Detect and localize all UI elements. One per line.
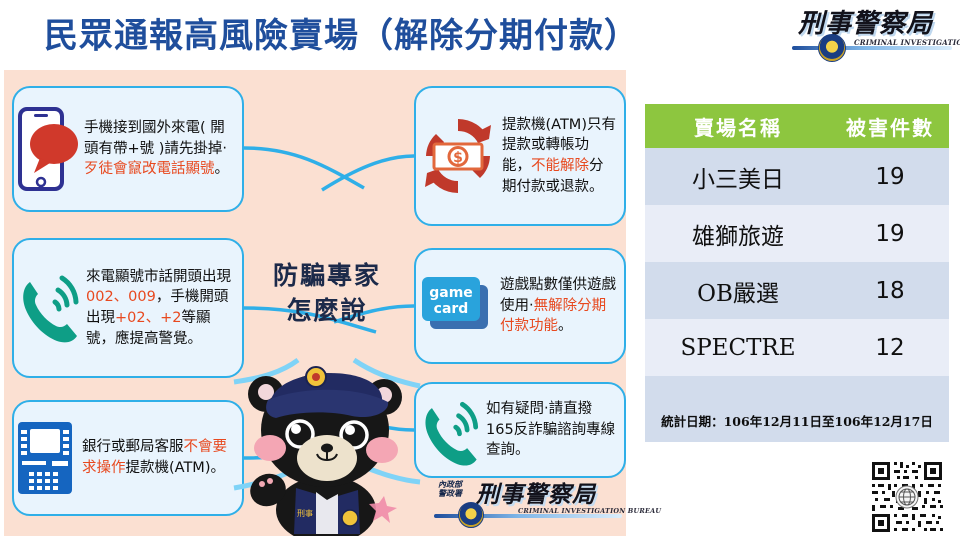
card-caller-id[interactable]: 來電顯號市話開頭出現002、009，手機開頭出現+02、+2等顯號，應提高警覺。 — [12, 238, 244, 378]
plain-text: 提款機(ATM)。 — [126, 460, 225, 476]
qr-code-icon[interactable] — [868, 458, 946, 536]
table-cell-count: 18 — [831, 278, 949, 304]
police-seal-icon — [458, 502, 484, 528]
highlighted-text: +02、+2 — [115, 310, 181, 326]
victim-count-table: 賣場名稱 被害件數 小三美日 19 雄獅旅遊 19 OB嚴選 18 SPECTR… — [645, 104, 949, 442]
table-header-name: 賣場名稱 — [645, 112, 831, 141]
smartphone-call-icon — [14, 103, 80, 195]
table-cell-count: 19 — [831, 164, 949, 190]
card-atm-function-text: 提款機(ATM)只有提款或轉帳功能，不能解除分期付款或退款。 — [500, 115, 624, 197]
table-header-count: 被害件數 — [831, 112, 949, 141]
card-overseas-call[interactable]: 手機接到國外來電( 開頭有帶+號 )請先掛掉‧歹徒會竄改電話顯號。 — [12, 86, 244, 212]
table-row[interactable]: 雄獅旅遊 19 — [645, 205, 949, 262]
table-cell-name: 小三美日 — [645, 160, 831, 194]
plain-text: 來電顯號市話開頭出現 — [86, 269, 231, 285]
card-game-points-text: 遊戲點數僅供遊戲使用‧無解除分期付款功能。 — [498, 275, 624, 337]
plain-text: 手機接到國外來電( 開頭有帶+號 )請先掛掉‧ — [84, 120, 227, 157]
money-transfer-icon: $ — [416, 111, 500, 201]
highlighted-text: 002、009 — [86, 289, 156, 305]
plain-text: 銀行或郵局客服 — [82, 439, 184, 455]
police-bear-mascot: 刑事 — [232, 342, 422, 536]
card-hotline-165-text: 如有疑問‧請直撥165反詐騙諮詢專線查詢。 — [484, 399, 624, 461]
cib-logo-top: 刑事警察局 CRIMINAL INVESTIGATION BUREAU — [790, 2, 954, 66]
table-cell-name: OB嚴選 — [645, 274, 831, 308]
table-spacer — [645, 376, 949, 398]
table-cell-count: 12 — [831, 335, 949, 361]
cib-logo-english: CRIMINAL INVESTIGATION BUREAU — [854, 38, 960, 47]
card-bank-service[interactable]: 銀行或郵局客服不會要求操作提款機(ATM)。 — [12, 400, 244, 516]
table-date-note: 統計日期：106年12月11日至106年12月17日 — [645, 398, 949, 442]
police-seal-icon — [818, 34, 846, 62]
table-row[interactable]: 小三美日 19 — [645, 148, 949, 205]
table-cell-name: 雄獅旅遊 — [645, 217, 831, 251]
center-heading-line2: 怎麼說 — [242, 293, 412, 328]
table-header-row: 賣場名稱 被害件數 — [645, 104, 949, 148]
cib-logo-bottom: 內政部 警政署 刑事警察局 CRIMINAL INVESTIGATION BUR… — [432, 474, 624, 530]
cib-logo-chinese: 刑事警察局 — [476, 475, 596, 509]
plain-text: 。 — [558, 318, 573, 334]
highlighted-text: 不能解除 — [531, 158, 589, 174]
svg-text:$: $ — [453, 150, 463, 166]
atm-machine-icon — [14, 418, 76, 498]
cib-logo-chinese: 刑事警察局 — [798, 3, 933, 40]
card-caller-id-text: 來電顯號市話開頭出現002、009，手機開頭出現+02、+2等顯號，應提高警覺。 — [84, 267, 242, 349]
info-panel: 手機接到國外來電( 開頭有帶+號 )請先掛掉‧歹徒會竄改電話顯號。 來電顯號市話… — [4, 70, 626, 536]
page-header: 民眾通報高風險賣場（解除分期付款） 刑事警察局 CRIMINAL INVESTI… — [0, 0, 960, 68]
table-row[interactable]: OB嚴選 18 — [645, 262, 949, 319]
table-cell-count: 19 — [831, 221, 949, 247]
center-heading-line1: 防騙專家 — [242, 258, 412, 293]
card-overseas-call-text: 手機接到國外來電( 開頭有帶+號 )請先掛掉‧歹徒會竄改電話顯號。 — [80, 118, 242, 180]
card-hotline-165[interactable]: 如有疑問‧請直撥165反詐騙諮詢專線查詢。 — [414, 382, 626, 478]
card-atm-function[interactable]: $ 提款機(ATM)只有提款或轉帳功能，不能解除分期付款或退款。 — [414, 86, 626, 226]
table-row[interactable]: SPECTRE 12 — [645, 319, 949, 376]
page-title: 民眾通報高風險賣場（解除分期付款） — [44, 8, 639, 57]
cib-logo-dept-line2: 警政署 — [438, 489, 462, 498]
plain-text: 。 — [215, 161, 230, 177]
game-card-label-line1: game — [429, 285, 473, 301]
card-bank-service-text: 銀行或郵局客服不會要求操作提款機(ATM)。 — [76, 437, 242, 478]
table-cell-name: SPECTRE — [645, 335, 831, 361]
ringing-phone-icon — [14, 262, 84, 354]
svg-text:刑事: 刑事 — [297, 508, 313, 518]
cib-logo-english: CRIMINAL INVESTIGATION BUREAU — [518, 507, 661, 515]
highlighted-text: 歹徒會竄改電話顯號 — [84, 161, 215, 177]
game-card-label-line2: card — [434, 301, 469, 317]
cib-logo-dept: 內政部 警政署 — [438, 480, 462, 498]
card-game-points[interactable]: game card 遊戲點數僅供遊戲使用‧無解除分期付款功能。 — [414, 248, 626, 364]
center-heading: 防騙專家 怎麼說 — [242, 258, 412, 328]
game-card-icon: game card — [416, 271, 498, 341]
ringing-phone-icon — [416, 391, 484, 469]
plain-text: 如有疑問‧請直撥165反詐騙諮詢專線查詢。 — [486, 401, 615, 458]
